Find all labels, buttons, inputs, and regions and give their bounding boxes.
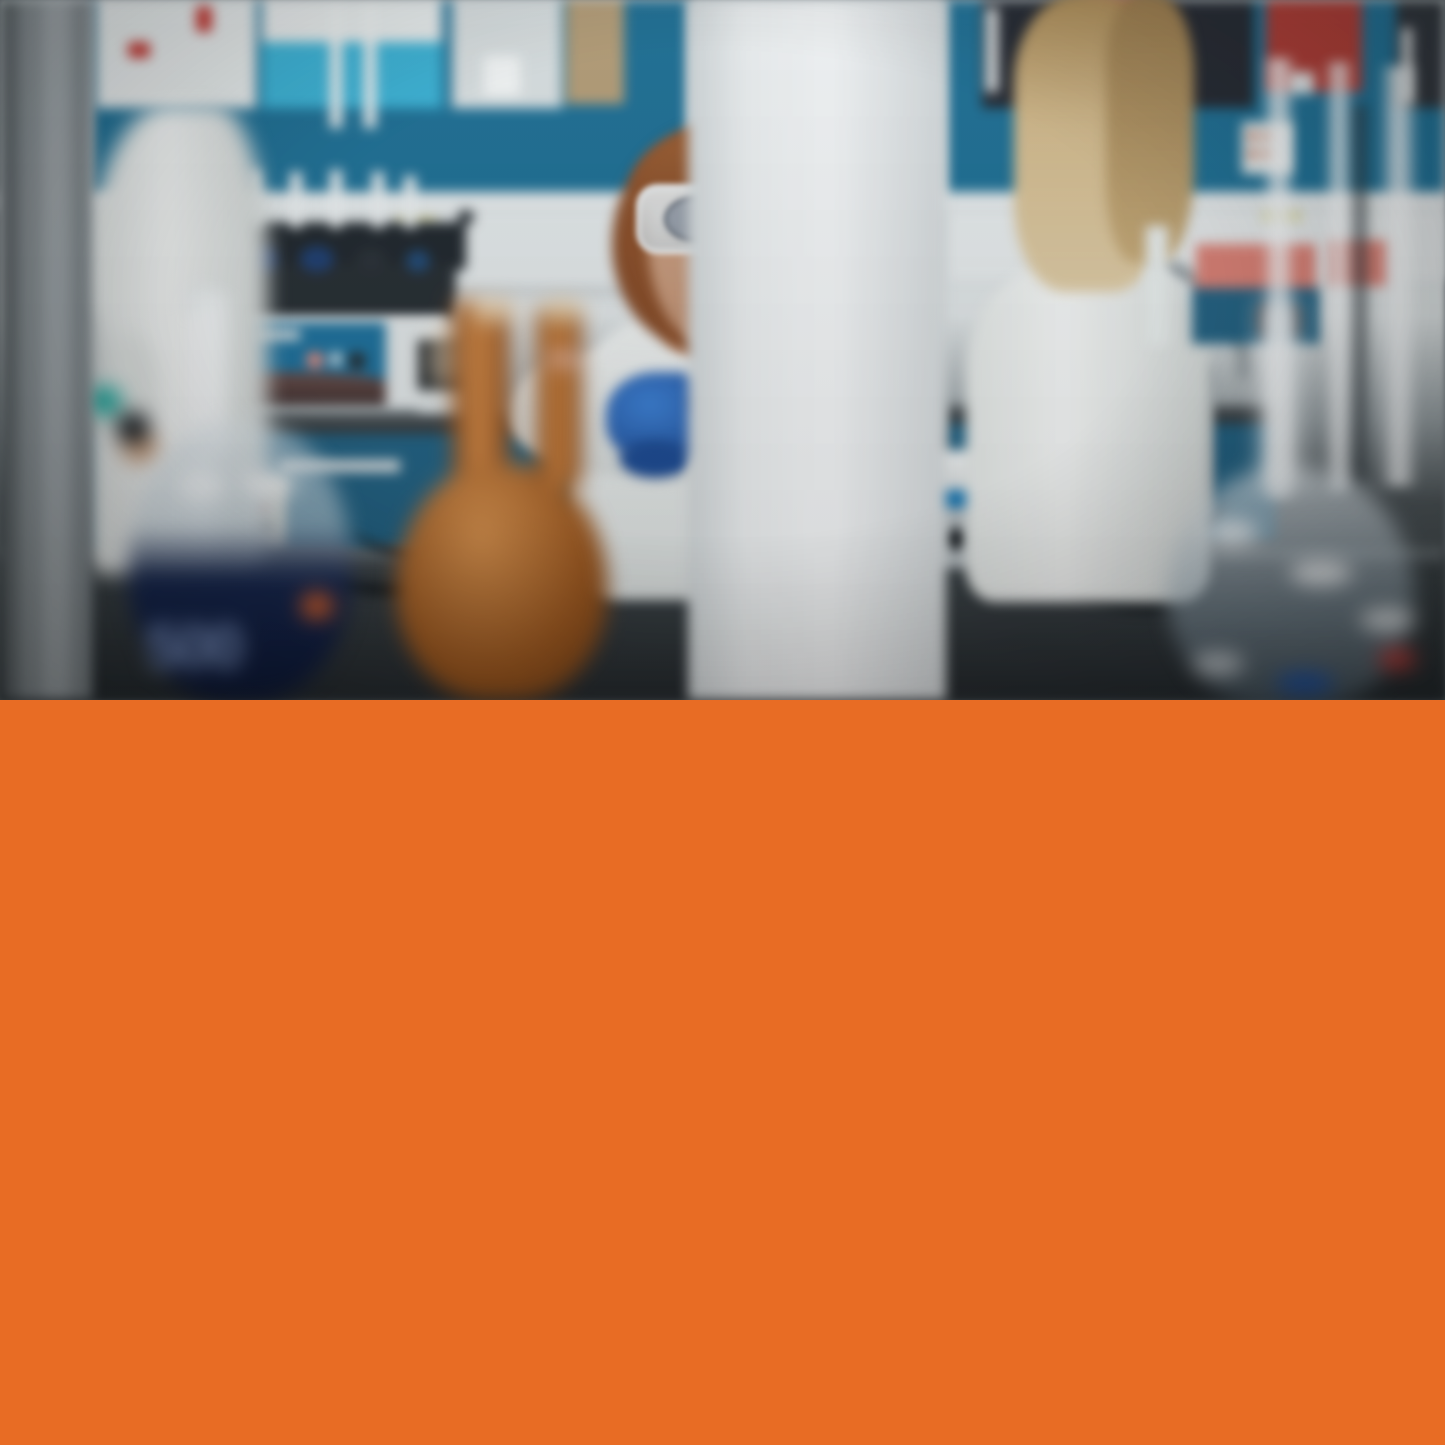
lab-photo: 500	[0, 0, 1445, 700]
orange-text-panel: THERE IS A FINE LINE BETWEEN PASSION AND…	[0, 700, 1445, 1445]
photo-vignette	[0, 0, 1445, 700]
promo-graphic: 500	[0, 0, 1445, 1445]
